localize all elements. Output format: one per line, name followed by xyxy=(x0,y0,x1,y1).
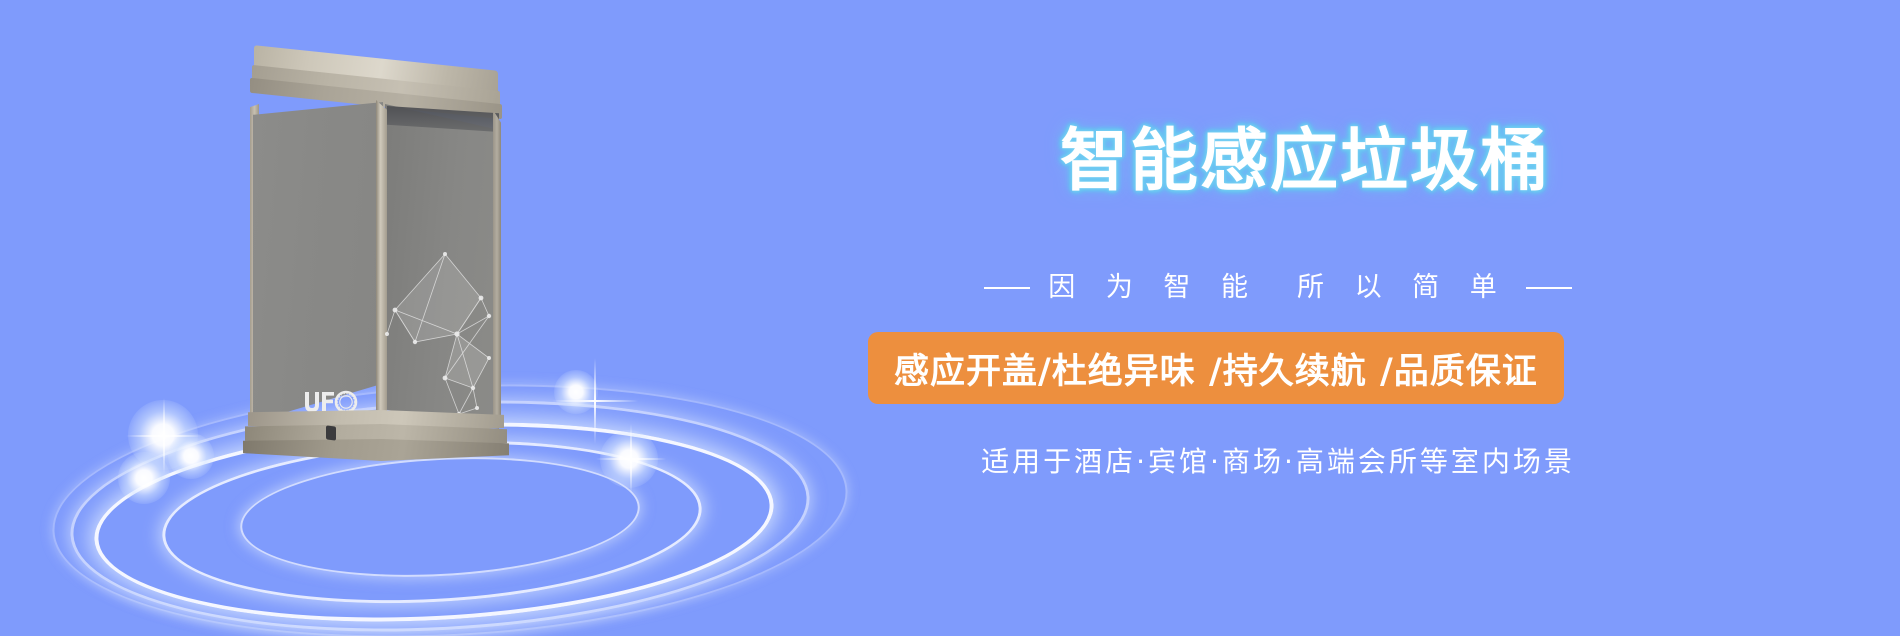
usage-scenes-text: 适用于酒店·宾馆·商场·高端会所等室内场景 xyxy=(868,440,1688,480)
banner-subtitle-text: 因 为 智 能 所 以 简 单 xyxy=(1048,274,1508,301)
promo-banner: 智能感应垃圾桶 因 为 智 能 所 以 简 单 感应开盖/杜绝异味 /持久续航 … xyxy=(0,0,1900,636)
network-polygon-graphic xyxy=(385,238,501,428)
banner-subtitle: 因 为 智 能 所 以 简 单 xyxy=(868,274,1688,301)
product-stage xyxy=(0,0,880,636)
trash-bin-product-image xyxy=(246,58,506,448)
bin-base-slot xyxy=(326,425,336,440)
bin-front-panel xyxy=(253,102,383,422)
dash-right-icon xyxy=(1526,287,1572,289)
feature-highlight-badge: 感应开盖/杜绝异味 /持久续航 /品质保证 xyxy=(868,332,1564,404)
banner-title: 智能感应垃圾桶 xyxy=(1060,128,1760,196)
dash-left-icon xyxy=(984,287,1030,289)
copy-block: 智能感应垃圾桶 因 为 智 能 所 以 简 单 感应开盖/杜绝异味 /持久续航 … xyxy=(880,0,1900,636)
